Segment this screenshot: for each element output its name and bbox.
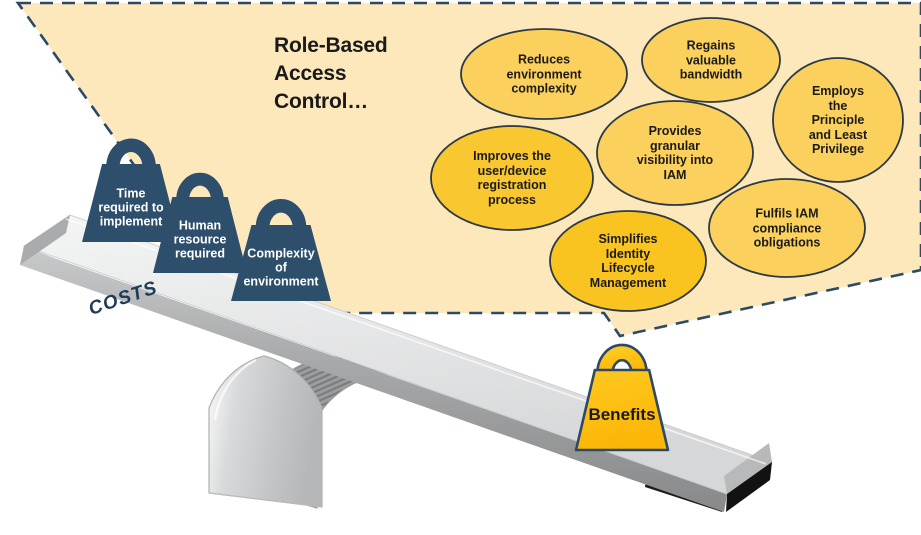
benefit-bubble-regains-valuable-bandwidth[interactable]	[642, 18, 780, 102]
weight-body-benefits	[576, 370, 668, 450]
benefit-bubble-improves-user-device-registration[interactable]	[431, 126, 593, 230]
infographic-canvas: Role-Based Access Control… COSTS Reduces…	[0, 0, 921, 535]
balance-scale-illustration	[0, 0, 921, 535]
benefit-bubble-fulfils-iam-compliance[interactable]	[709, 179, 865, 277]
benefit-bubble-employs-principle-least-privilege[interactable]	[773, 58, 903, 182]
weight-benefits[interactable]	[576, 353, 668, 450]
benefit-bubble-provides-granular-visibility-iam[interactable]	[597, 101, 753, 205]
benefit-bubble-reduces-environment-complexity[interactable]	[461, 29, 627, 119]
benefit-bubble-simplifies-identity-lifecycle[interactable]	[550, 211, 706, 311]
